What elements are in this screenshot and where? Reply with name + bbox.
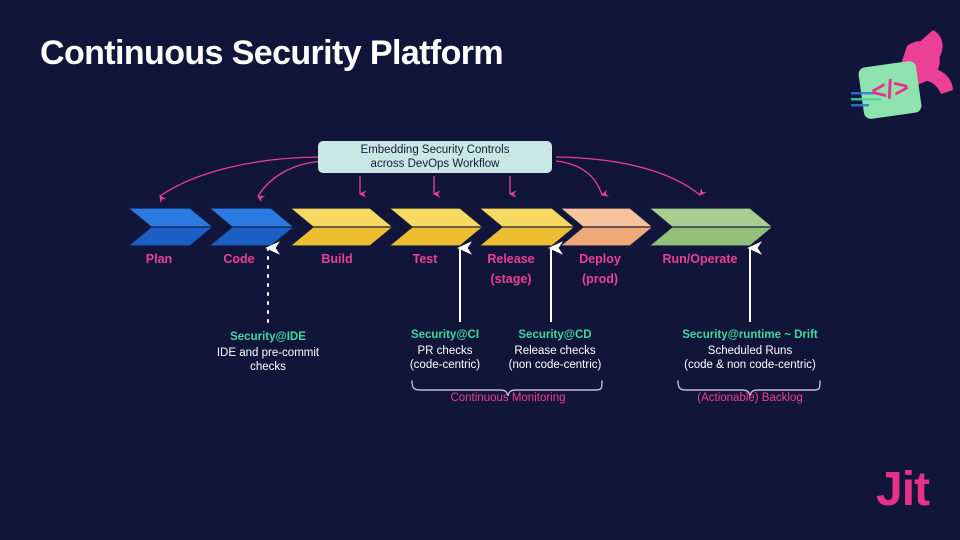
annotation-body: PR checks (code-centric) xyxy=(385,344,505,373)
pipeline-stage-run-operate xyxy=(649,208,773,246)
brace-label-continuous-monitoring: Continuous Monitoring xyxy=(428,392,588,404)
pipeline-stage-build xyxy=(290,208,393,246)
stage-label-plan: Plan xyxy=(130,249,188,269)
callout-connector-arrows xyxy=(0,0,960,540)
stage-label-deploy-sub: (prod) xyxy=(570,269,630,289)
annotation-body: Release checks (non code-centric) xyxy=(489,344,621,373)
annotation-connector-arrows xyxy=(0,0,960,540)
annotation-security-at-cd: Security@CD Release checks (non code-cen… xyxy=(489,328,621,373)
annotation-heading: Security@CD xyxy=(489,328,621,343)
brace-label-actionable-backlog: (Actionable) Backlog xyxy=(675,392,825,404)
annotation-body: IDE and pre-commit checks xyxy=(192,346,344,375)
pipeline-stage-test xyxy=(389,208,483,246)
callout-line-2: across DevOps Workflow xyxy=(371,157,500,171)
stage-label-build: Build xyxy=(308,249,366,269)
svg-text:</>: </> xyxy=(869,72,910,107)
pipeline-stage-release xyxy=(479,208,575,246)
code-card-hand-icon: </> xyxy=(845,24,955,129)
annotation-security-at-ci: Security@CI PR checks (code-centric) xyxy=(385,328,505,373)
stage-label-test: Test xyxy=(396,249,454,269)
stage-label-run-operate: Run/Operate xyxy=(650,249,750,269)
slide-canvas: Continuous Security Platform </> xyxy=(0,0,960,540)
grouping-braces xyxy=(0,0,960,540)
annotation-heading: Security@runtime ~ Drift xyxy=(655,328,845,343)
devops-pipeline xyxy=(0,0,960,540)
annotation-heading: Security@CI xyxy=(385,328,505,343)
stage-label-release-sub: (stage) xyxy=(481,269,541,289)
jit-logo: Jit xyxy=(876,466,929,514)
stage-label-release: Release xyxy=(481,249,541,269)
callout-box: Embedding Security Controls across DevOp… xyxy=(318,141,552,173)
callout-line-1: Embedding Security Controls xyxy=(361,143,510,157)
pipeline-stage-deploy xyxy=(560,208,653,246)
page-title: Continuous Security Platform xyxy=(40,34,503,73)
pipeline-stage-plan xyxy=(128,208,213,246)
annotation-security-at-runtime: Security@runtime ~ Drift Scheduled Runs … xyxy=(655,328,845,373)
annotation-security-at-ide: Security@IDE IDE and pre-commit checks xyxy=(192,330,344,375)
annotation-body: Scheduled Runs (code & non code-centric) xyxy=(655,344,845,373)
stage-label-code: Code xyxy=(210,249,268,269)
stage-label-deploy: Deploy xyxy=(570,249,630,269)
annotation-heading: Security@IDE xyxy=(192,330,344,345)
pipeline-stage-code xyxy=(209,208,294,246)
